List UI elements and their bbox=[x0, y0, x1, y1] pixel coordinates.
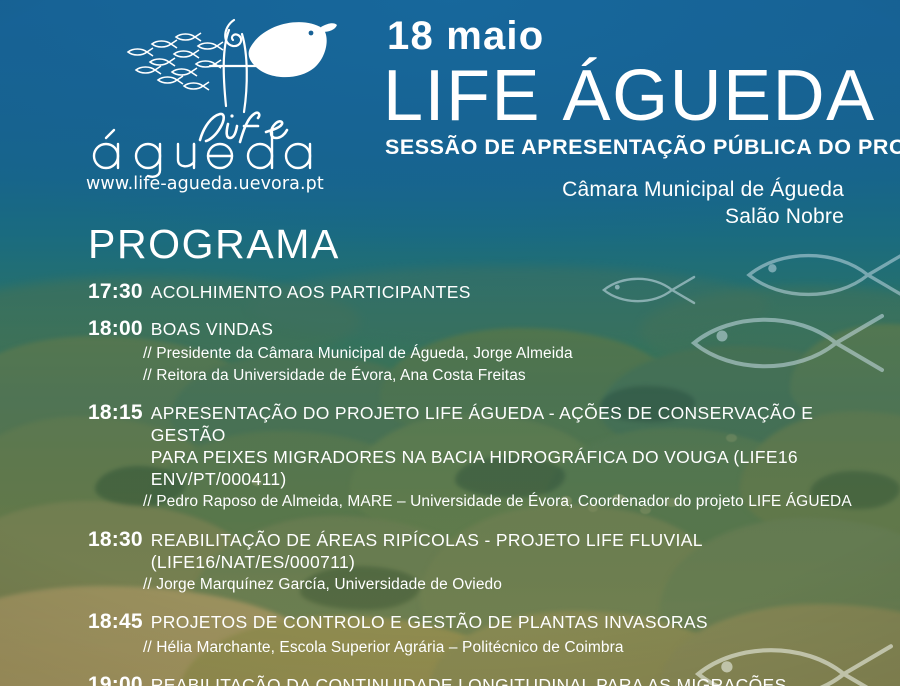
speaker-line: // Jorge Marquínez García, Universidade … bbox=[143, 574, 870, 595]
programa-item: 19:00 REABILITAÇÃO DA CONTINUIDADE LONGI… bbox=[88, 671, 870, 686]
programa-item: 18:15 APRESENTAÇÃO DO PROJETO LIFE ÁGUED… bbox=[88, 399, 870, 513]
programa-item: 18:45 PROJETOS DE CONTROLO E GESTÃO DE P… bbox=[88, 608, 870, 658]
programa-item: 17:30 ACOLHIMENTO AOS PARTICIPANTES bbox=[88, 278, 870, 306]
programa-item-time: 18:45 bbox=[88, 608, 143, 636]
poster-header: 18 maio LIFE ÁGUEDA SESSÃO DE APRESENTAÇ… bbox=[375, 16, 845, 231]
programa-item-speakers: // Pedro Raposo de Almeida, MARE – Unive… bbox=[143, 491, 870, 512]
programa-item-title: ACOLHIMENTO AOS PARTICIPANTES bbox=[151, 281, 870, 303]
programa-item-speakers: // Presidente da Câmara Municipal de Águ… bbox=[143, 343, 870, 386]
logo-wordmark-agueda bbox=[84, 126, 374, 178]
programa-item-title: REABILITAÇÃO DA CONTINUIDADE LONGITUDINA… bbox=[151, 674, 870, 686]
programa-item-title: PARA PEIXES MIGRADORES NA BACIA HIDROGRÁ… bbox=[151, 446, 870, 490]
event-subtitle: SESSÃO DE APRESENTAÇÃO PÚBLICA DO PROJET… bbox=[385, 136, 845, 160]
poster: www.life-agueda.uevora.pt 18 maio LIFE Á… bbox=[0, 0, 900, 686]
programa-item-titles: PROJETOS DE CONTROLO E GESTÃO DE PLANTAS… bbox=[151, 611, 870, 633]
programa-item-title: APRESENTAÇÃO DO PROJETO LIFE ÁGUEDA - AÇ… bbox=[151, 402, 870, 446]
speaker-line: // Reitora da Universidade de Évora, Ana… bbox=[143, 365, 870, 386]
programa-heading: PROGRAMA bbox=[88, 224, 870, 265]
life-agueda-logo: www.life-agueda.uevora.pt bbox=[84, 14, 384, 194]
programa-item-titles: REABILITAÇÃO DE ÁREAS RIPÍCOLAS - PROJET… bbox=[151, 529, 870, 573]
speaker-line: // Hélia Marchante, Escola Superior Agrá… bbox=[143, 637, 870, 658]
page-title: LIFE ÁGUEDA bbox=[383, 60, 845, 133]
programa-item-speakers: // Hélia Marchante, Escola Superior Agrá… bbox=[143, 637, 870, 658]
programa-item-time: 18:15 bbox=[88, 399, 143, 427]
speaker-line: // Pedro Raposo de Almeida, MARE – Unive… bbox=[143, 491, 870, 512]
programa-item-speakers: // Jorge Marquínez García, Universidade … bbox=[143, 574, 870, 595]
programa-item-title: BOAS VINDAS bbox=[151, 318, 870, 340]
programa-item-titles: APRESENTAÇÃO DO PROJETO LIFE ÁGUEDA - AÇ… bbox=[151, 402, 870, 490]
programa-item-titles: BOAS VINDAS bbox=[151, 318, 870, 340]
programa-item-titles: ACOLHIMENTO AOS PARTICIPANTES bbox=[151, 281, 870, 303]
programa-item-time: 19:00 bbox=[88, 671, 143, 686]
venue-line-1: Câmara Municipal de Águeda bbox=[375, 177, 844, 204]
event-date: 18 maio bbox=[387, 16, 845, 56]
programa-item-time: 17:30 bbox=[88, 278, 143, 306]
programa-item-time: 18:00 bbox=[88, 315, 143, 343]
programa-item-title: REABILITAÇÃO DE ÁREAS RIPÍCOLAS - PROJET… bbox=[151, 529, 870, 573]
venue-block: Câmara Municipal de Águeda Salão Nobre bbox=[375, 177, 844, 231]
programa-item-title: PROJETOS DE CONTROLO E GESTÃO DE PLANTAS… bbox=[151, 611, 870, 633]
programa-item-titles: REABILITAÇÃO DA CONTINUIDADE LONGITUDINA… bbox=[151, 674, 870, 686]
programa-item: 18:00 BOAS VINDAS // Presidente da Câmar… bbox=[88, 315, 870, 386]
speaker-line: // Presidente da Câmara Municipal de Águ… bbox=[143, 343, 870, 364]
programa-section: PROGRAMA 17:30 ACOLHIMENTO AOS PARTICIPA… bbox=[88, 224, 870, 686]
programa-item-time: 18:30 bbox=[88, 526, 143, 554]
programa-item: 18:30 REABILITAÇÃO DE ÁREAS RIPÍCOLAS - … bbox=[88, 526, 870, 595]
